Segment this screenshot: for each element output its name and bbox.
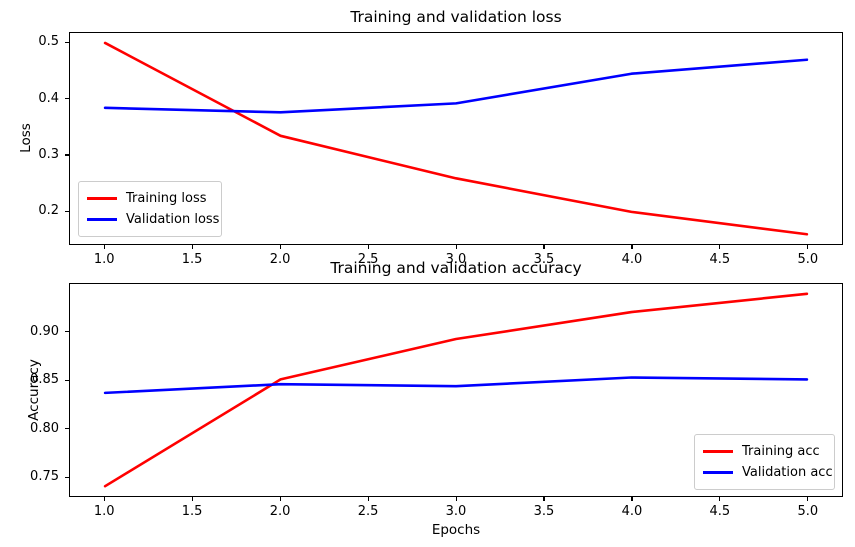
x-tick-mark	[280, 497, 281, 501]
y-tick-label: 0.80	[7, 421, 59, 436]
y-tick-label: 0.90	[7, 324, 59, 339]
validation-acc-color-swatch	[703, 471, 733, 473]
legend-item-validation-loss: Validation loss	[87, 209, 213, 230]
x-tick-label: 1.0	[74, 504, 134, 519]
x-tick-mark	[104, 245, 105, 249]
x-tick-mark	[807, 245, 808, 249]
legend-label-training-loss: Training loss	[126, 191, 207, 206]
x-tick-mark	[192, 245, 193, 249]
y-tick-mark	[65, 154, 69, 155]
x-tick-mark	[104, 497, 105, 501]
y-tick-label: 0.3	[7, 147, 59, 162]
loss-chart-title: Training and validation loss	[69, 8, 843, 26]
training-loss-color-swatch	[87, 197, 117, 199]
x-tick-mark	[719, 245, 720, 249]
legend-label-training-acc: Training acc	[742, 444, 820, 459]
x-tick-mark	[280, 245, 281, 249]
y-tick-label: 0.75	[7, 469, 59, 484]
x-tick-label: 3.5	[514, 504, 574, 519]
y-tick-mark	[65, 380, 69, 381]
x-tick-label: 5.0	[778, 504, 838, 519]
x-tick-mark	[543, 497, 544, 501]
series-line-validation-loss	[105, 60, 807, 113]
legend-item-validation-acc: Validation acc	[703, 462, 826, 483]
x-tick-mark	[368, 497, 369, 501]
y-tick-label: 0.5	[7, 34, 59, 49]
x-tick-mark	[192, 497, 193, 501]
y-tick-label: 0.4	[7, 91, 59, 106]
x-tick-mark	[456, 245, 457, 249]
x-tick-mark	[456, 497, 457, 501]
y-tick-label: 0.85	[7, 372, 59, 387]
y-tick-mark	[65, 211, 69, 212]
x-tick-label: 2.5	[338, 504, 398, 519]
accuracy-x-axis-label: Epochs	[69, 522, 843, 538]
x-tick-mark	[631, 245, 632, 249]
legend-item-training-acc: Training acc	[703, 441, 826, 462]
y-tick-mark	[65, 428, 69, 429]
loss-y-axis-label: Loss	[18, 98, 34, 178]
accuracy-chart-title: Training and validation accuracy	[69, 259, 843, 277]
y-tick-label: 0.2	[7, 203, 59, 218]
y-tick-mark	[65, 98, 69, 99]
x-tick-mark	[807, 497, 808, 501]
y-tick-mark	[65, 477, 69, 478]
training-acc-color-swatch	[703, 450, 733, 452]
legend-label-validation-loss: Validation loss	[126, 212, 219, 227]
legend-item-training-loss: Training loss	[87, 188, 213, 209]
loss-legend: Training loss Validation loss	[78, 181, 222, 237]
x-tick-mark	[719, 497, 720, 501]
x-tick-label: 1.5	[162, 504, 222, 519]
series-line-validation-acc	[105, 377, 807, 392]
x-tick-mark	[368, 245, 369, 249]
y-tick-mark	[65, 42, 69, 43]
x-tick-label: 2.0	[250, 504, 310, 519]
y-tick-mark	[65, 331, 69, 332]
x-tick-mark	[631, 497, 632, 501]
accuracy-legend: Training acc Validation acc	[694, 434, 835, 490]
x-tick-label: 4.5	[690, 504, 750, 519]
x-tick-label: 4.0	[602, 504, 662, 519]
validation-loss-color-swatch	[87, 218, 117, 220]
legend-label-validation-acc: Validation acc	[742, 465, 833, 480]
matplotlib-figure: Training and validation loss Loss 1.01.5…	[0, 0, 855, 547]
x-tick-mark	[543, 245, 544, 249]
x-tick-label: 3.0	[426, 504, 486, 519]
